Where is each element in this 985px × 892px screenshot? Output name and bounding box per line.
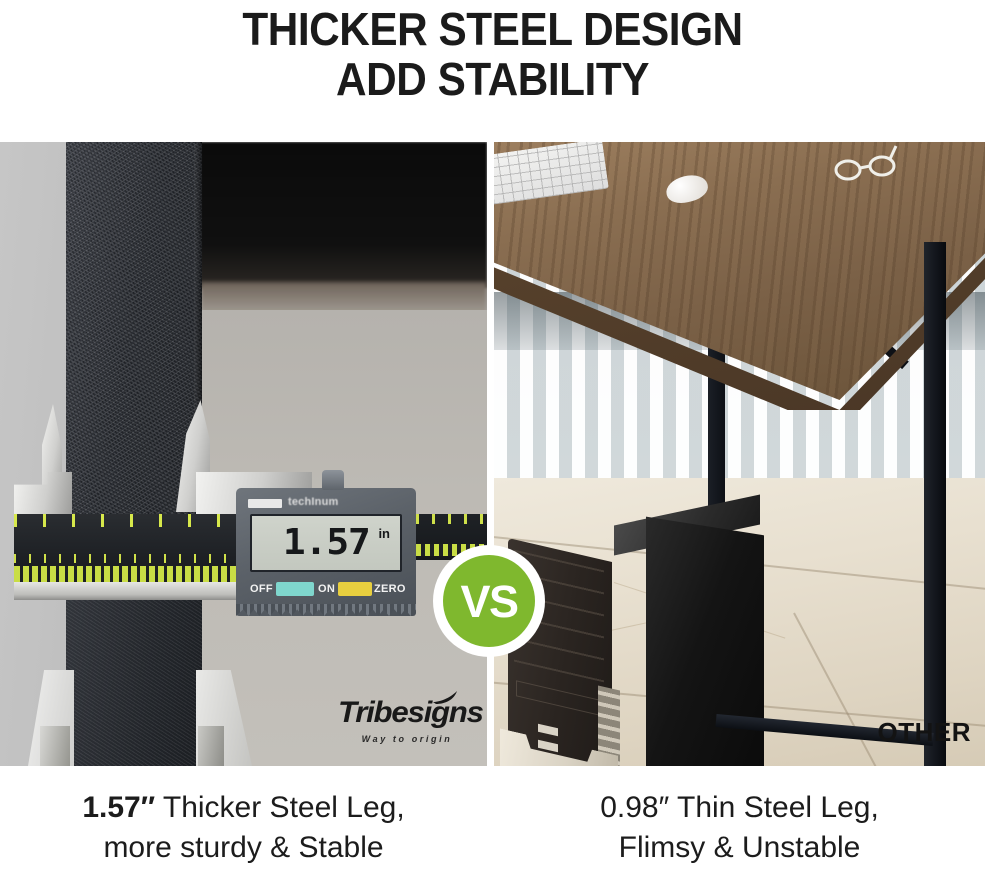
panel-tribesigns: techInum 1.57 in OFF ON ZERO Tribesigns bbox=[0, 142, 487, 766]
caption-right-line2: Flimsy & Unstable bbox=[494, 828, 985, 868]
caliper-lcd-unit: in bbox=[378, 526, 390, 541]
caliper-brand-chip bbox=[248, 499, 282, 508]
caliper-lower-jaw-right bbox=[198, 726, 224, 766]
vs-badge: VS bbox=[433, 545, 545, 657]
caliper-lcd-value: 1.57 bbox=[283, 525, 370, 561]
vs-badge-circle: VS bbox=[443, 555, 535, 647]
caliper-off-label[interactable]: OFF bbox=[250, 583, 273, 595]
under-desk-shadow bbox=[200, 142, 487, 288]
headline-line-1: THICKER STEEL DESIGN bbox=[39, 4, 945, 54]
keyboard bbox=[494, 142, 609, 207]
caliper-brand-bar: techInum bbox=[248, 498, 388, 510]
comparison-panels: techInum 1.57 in OFF ON ZERO Tribesigns bbox=[0, 142, 985, 766]
mouse bbox=[663, 171, 710, 206]
caliper-thumb-screw bbox=[322, 470, 344, 490]
tribesigns-tagline: Way to origin bbox=[338, 734, 476, 744]
tribesigns-wordmark: Tribesigns bbox=[338, 698, 482, 728]
eyeglasses-icon bbox=[834, 144, 898, 182]
caliper-lcd-display: 1.57 in bbox=[250, 514, 402, 572]
caption-other: 0.98″ Thin Steel Leg, Flimsy & Unstable bbox=[494, 788, 985, 868]
vs-badge-label: VS bbox=[460, 579, 517, 624]
tribesigns-logo: Tribesigns Way to origin bbox=[338, 698, 476, 744]
caption-right-measure: 0.98″ bbox=[600, 791, 669, 824]
caliper-zero-label[interactable]: ZERO bbox=[374, 583, 406, 595]
caliper-brand-text: techInum bbox=[288, 496, 339, 508]
comparison-infographic: THICKER STEEL DESIGN ADD STABILITY bbox=[0, 0, 985, 892]
caliper-on-label[interactable]: ON bbox=[318, 583, 335, 595]
other-brand-label: OTHER bbox=[878, 717, 972, 748]
page-title: THICKER STEEL DESIGN ADD STABILITY bbox=[39, 4, 945, 104]
caption-left-line1-rest: Thicker Steel Leg, bbox=[155, 791, 405, 824]
caliper-on-button[interactable] bbox=[276, 582, 314, 596]
leaf-icon bbox=[432, 691, 458, 704]
desk-leg-front bbox=[924, 242, 946, 766]
caption-left-line2: more sturdy & Stable bbox=[0, 828, 487, 868]
caption-tribesigns: 1.57″ Thicker Steel Leg, more sturdy & S… bbox=[0, 788, 487, 868]
thick-steel-leg-lower bbox=[66, 572, 202, 766]
panel-other-brand: OTHER bbox=[494, 142, 985, 766]
headline-line-2: ADD STABILITY bbox=[39, 54, 945, 104]
caption-right-line1-rest: Thin Steel Leg, bbox=[669, 791, 879, 824]
digital-caliper-head: techInum 1.57 in OFF ON ZERO bbox=[236, 488, 416, 616]
caliper-lower-jaw-left bbox=[40, 726, 70, 766]
caliper-rack-teeth bbox=[236, 604, 416, 616]
caliper-button-row: OFF ON ZERO bbox=[250, 580, 406, 600]
caliper-zero-button[interactable] bbox=[338, 582, 372, 596]
caption-left-measure: 1.57″ bbox=[82, 791, 155, 824]
captions-row: 1.57″ Thicker Steel Leg, more sturdy & S… bbox=[0, 788, 985, 892]
